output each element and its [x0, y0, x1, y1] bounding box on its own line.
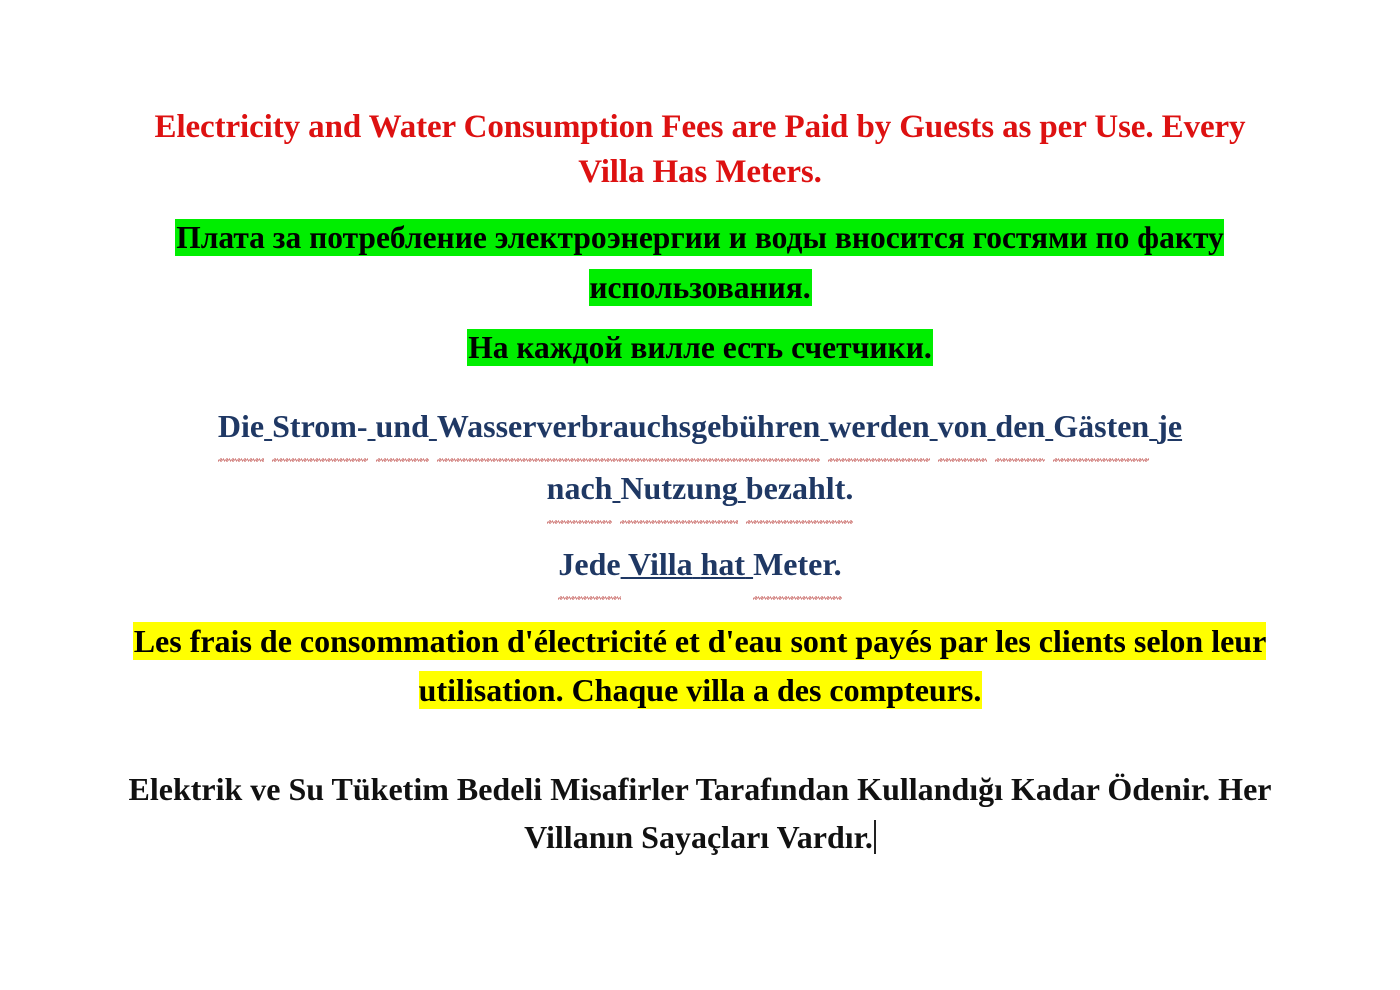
spellcheck-word[interactable]: von [938, 399, 988, 453]
spellcheck-word[interactable]: und [376, 399, 429, 453]
german-word: Villa [628, 546, 693, 582]
paragraph-turkish-text: Elektrik ve Su Tüketim Bedeli Misafirler… [129, 771, 1272, 855]
paragraph-russian-2[interactable]: На каждой вилле есть счетчики. [125, 323, 1275, 373]
paragraph-russian-1-text: Плата за потребление электроэнергии и во… [176, 220, 1224, 305]
paragraph-german-2[interactable]: Jede Villa hat Meter. [125, 537, 1275, 591]
german-word: je [1157, 408, 1182, 444]
paragraph-english[interactable]: Electricity and Water Consumption Fees a… [125, 105, 1275, 195]
text-caret [874, 820, 876, 854]
german-word: hat [701, 546, 745, 582]
spellcheck-word[interactable]: Die [218, 399, 264, 453]
spellcheck-word[interactable]: Gästen [1053, 399, 1149, 453]
document-canvas[interactable]: Electricity and Water Consumption Fees a… [0, 0, 1400, 990]
paragraph-russian-2-text: На каждой вилле есть счетчики. [468, 330, 931, 365]
paragraph-russian-1[interactable]: Плата за потребление электроэнергии и во… [125, 213, 1275, 313]
spellcheck-word[interactable]: den [995, 399, 1045, 453]
paragraph-turkish[interactable]: Elektrik ve Su Tüketim Bedeli Misafirler… [125, 765, 1275, 861]
spellcheck-word[interactable]: Jede [558, 537, 620, 591]
spellcheck-word[interactable]: nach [547, 461, 613, 515]
spellcheck-word[interactable]: Meter. [753, 537, 842, 591]
paragraph-english-text: Electricity and Water Consumption Fees a… [155, 109, 1246, 190]
paragraph-german-1-line2[interactable]: nach Nutzung bezahlt. [125, 461, 1275, 515]
spellcheck-word[interactable]: bezahlt. [746, 461, 854, 515]
paragraph-french-text: Les frais de consommation d'électricité … [134, 623, 1267, 708]
spellcheck-word[interactable]: werden [828, 399, 929, 453]
spellcheck-word[interactable]: Nutzung [620, 461, 737, 515]
paragraph-french[interactable]: Les frais de consommation d'électricité … [125, 617, 1275, 715]
spellcheck-word[interactable]: Wasserverbrauchsgebühren [437, 399, 820, 453]
paragraph-german-1[interactable]: Die Strom- und Wasserverbrauchsgebühren … [125, 399, 1275, 453]
spellcheck-word[interactable]: Strom- [272, 399, 367, 453]
